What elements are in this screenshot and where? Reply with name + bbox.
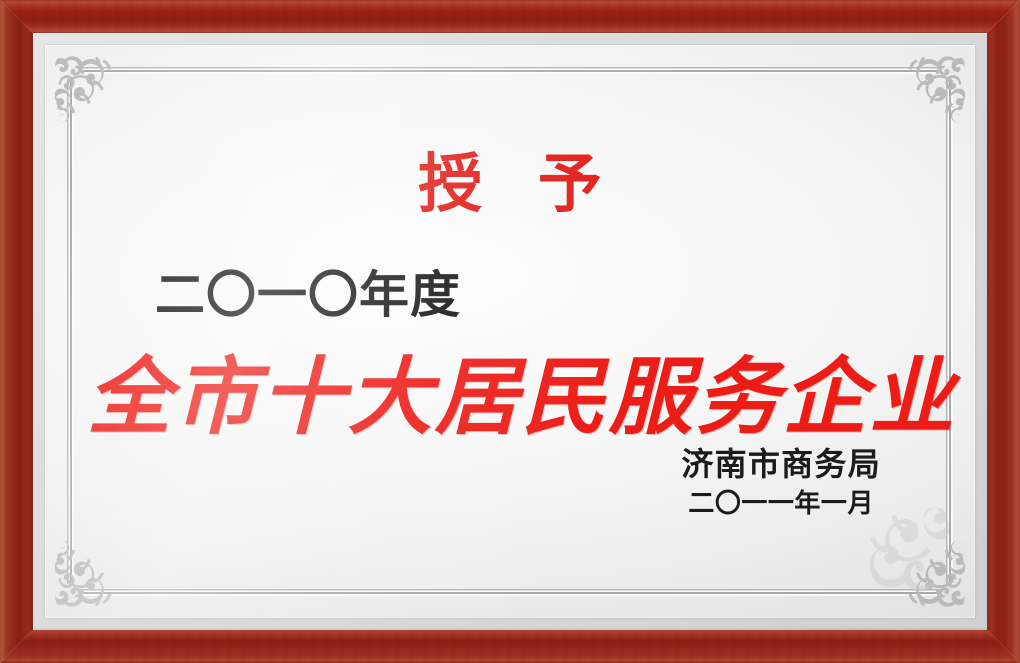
border-rule-left	[67, 79, 74, 584]
border-rule-right	[946, 79, 953, 584]
mat-board: 授 予 二〇一〇年度 全市十大居民服务企业 济南市商务局 二〇一一年一月	[33, 33, 987, 630]
frame-left-rail	[0, 0, 34, 663]
frame-bottom-rail	[0, 629, 1020, 663]
award-verb-text: 授 予	[87, 153, 933, 217]
wood-grain-texture	[0, 629, 1020, 663]
wood-grain-texture	[0, 0, 34, 663]
award-title-text: 全市十大居民服务企业	[87, 355, 933, 439]
border-rule-bottom	[79, 589, 941, 596]
border-rule-top	[79, 67, 941, 74]
certificate-content: 授 予 二〇一〇年度 全市十大居民服务企业 济南市商务局 二〇一一年一月	[87, 85, 933, 578]
wood-grain-texture	[0, 0, 1020, 34]
issuer-block: 济南市商务局 二〇一一年一月	[681, 446, 881, 520]
award-plaque: 授 予 二〇一〇年度 全市十大居民服务企业 济南市商务局 二〇一一年一月	[0, 0, 1020, 663]
wood-grain-texture	[986, 0, 1020, 663]
frame-right-rail	[986, 0, 1020, 663]
certificate-panel: 授 予 二〇一〇年度 全市十大居民服务企业 济南市商务局 二〇一一年一月	[45, 45, 975, 618]
award-year-text: 二〇一〇年度	[155, 270, 461, 320]
issuer-name-text: 济南市商务局	[681, 446, 881, 484]
frame-top-rail	[0, 0, 1020, 34]
issuer-date-text: 二〇一一年一月	[681, 490, 881, 520]
